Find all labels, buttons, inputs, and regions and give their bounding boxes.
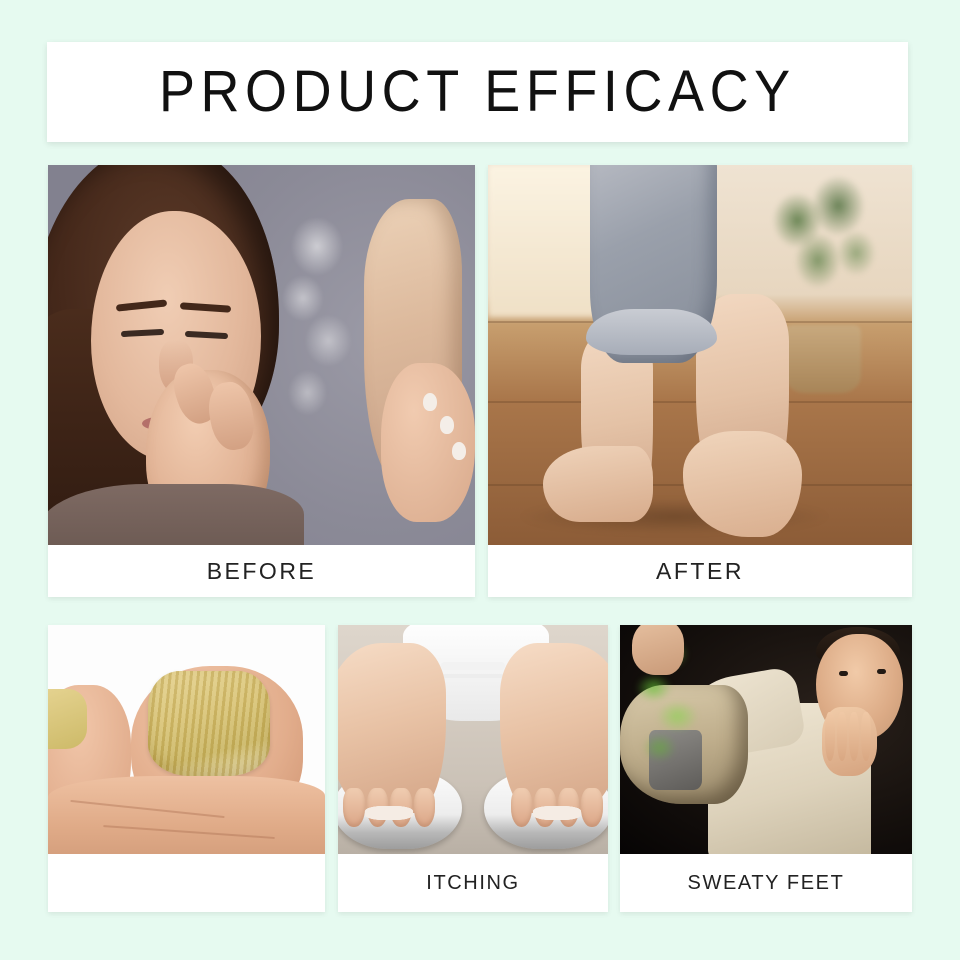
toe-shape xyxy=(343,788,364,827)
toe-shape xyxy=(511,788,532,827)
problem-card-itching: ITCHING xyxy=(338,625,608,912)
itching-image xyxy=(338,625,608,854)
after-card: AFTER xyxy=(488,165,912,597)
window-light-shape xyxy=(488,165,598,317)
itching-caption: ITCHING xyxy=(338,854,608,912)
finger-shape xyxy=(861,712,871,761)
eye-left-shape xyxy=(839,671,848,676)
foot-left-shape xyxy=(543,446,653,522)
hand-covering-mouth-shape xyxy=(822,707,877,776)
eye-right-shape xyxy=(877,669,886,674)
itching-caption-label: ITCHING xyxy=(426,872,519,895)
toe-shape xyxy=(414,788,435,827)
after-caption-label: AFTER xyxy=(656,558,744,585)
toe-shape xyxy=(581,788,602,827)
problem-card-nail-fungus xyxy=(48,625,325,912)
toenail-small-shape xyxy=(48,689,87,749)
finger-shape xyxy=(837,712,847,761)
toes-right-group xyxy=(511,788,603,827)
sweaty-feet-caption-label: SWEATY FEET xyxy=(688,872,845,895)
page-title-card: PRODUCT EFFICACY xyxy=(47,42,908,142)
before-caption: BEFORE xyxy=(48,545,475,597)
fingernail-shape xyxy=(423,393,437,411)
jeans-cuff-shape xyxy=(586,309,717,355)
sweaty-feet-image xyxy=(620,625,912,854)
odor-smoke-shape xyxy=(270,218,364,454)
toes-left-group xyxy=(343,788,435,827)
foot-skin-shape xyxy=(48,776,325,854)
after-caption: AFTER xyxy=(488,545,912,597)
before-caption-label: BEFORE xyxy=(207,558,317,585)
hand-holding-shoe-shape xyxy=(632,625,685,675)
finger-shape xyxy=(849,712,859,761)
shoulder-shape xyxy=(48,484,304,545)
after-image xyxy=(488,165,912,545)
before-image xyxy=(48,165,475,545)
flower-pot-shape xyxy=(785,325,861,393)
fingernail-shape xyxy=(440,416,454,434)
nail-fungus-image xyxy=(48,625,325,854)
page-title: PRODUCT EFFICACY xyxy=(159,63,796,121)
nail-ridges-shape xyxy=(148,671,270,776)
nail-fungus-caption xyxy=(48,854,325,912)
sweaty-feet-caption: SWEATY FEET xyxy=(620,854,912,912)
problem-card-sweaty-feet: SWEATY FEET xyxy=(620,625,912,912)
shoelace-shape xyxy=(441,662,506,670)
finger-shape xyxy=(825,712,835,761)
before-card: BEFORE xyxy=(48,165,475,597)
